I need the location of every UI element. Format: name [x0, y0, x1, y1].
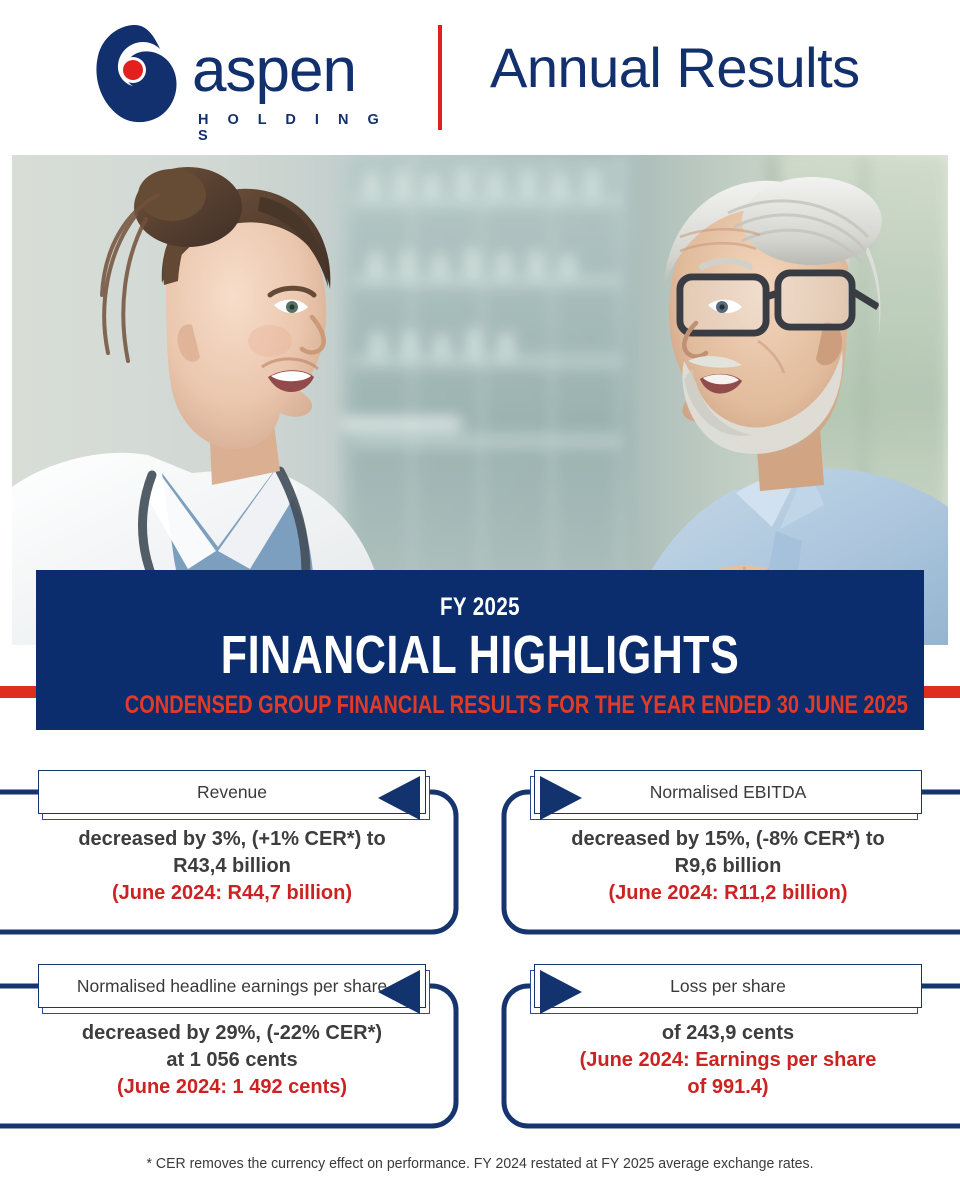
metric-line-1: of 243,9 cents	[532, 1020, 924, 1047]
metric-card-normalised-ebitda: Normalised EBITDA decreased by 15%, (-8%…	[480, 762, 960, 952]
metric-line-1: decreased by 3%, (+1% CER*) to	[36, 826, 428, 853]
metric-label: Revenue	[197, 782, 267, 803]
metric-line-1: decreased by 29%, (-22% CER*)	[36, 1020, 428, 1047]
metric-line-2: at 1 056 cents	[36, 1047, 428, 1074]
metric-prior-line-1: (June 2024: Earnings per share	[532, 1047, 924, 1074]
metric-prior-year: (June 2024: 1 492 cents)	[36, 1074, 428, 1101]
metric-prior-year: (June 2024: R11,2 billion)	[532, 880, 924, 907]
metric-card-revenue: Revenue decreased by 3%, (+1% CER*) to R…	[0, 762, 480, 952]
metric-label-box: Loss per share	[534, 964, 922, 1008]
metric-body: of 243,9 cents (June 2024: Earnings per …	[532, 1020, 924, 1101]
metric-line-2: R9,6 billion	[532, 853, 924, 880]
metric-body: decreased by 3%, (+1% CER*) to R43,4 bil…	[36, 826, 428, 907]
metric-label-box: Revenue	[38, 770, 426, 814]
triangle-left-icon	[378, 970, 420, 1014]
triangle-right-icon	[540, 776, 582, 820]
cer-footnote: * CER removes the currency effect on per…	[29, 1155, 931, 1172]
metric-card-loss-per-share: Loss per share of 243,9 cents (June 2024…	[480, 956, 960, 1146]
triangle-right-icon	[540, 970, 582, 1014]
metric-card-normalised-heps: Normalised headline earnings per share d…	[0, 956, 480, 1146]
metric-body: decreased by 29%, (-22% CER*) at 1 056 c…	[36, 1020, 428, 1101]
metric-line-1: decreased by 15%, (-8% CER*) to	[532, 826, 924, 853]
metric-label: Normalised headline earnings per share	[77, 976, 387, 997]
metric-label: Normalised EBITDA	[650, 782, 807, 803]
metric-label-box: Normalised EBITDA	[534, 770, 922, 814]
metric-line-2: R43,4 billion	[36, 853, 428, 880]
metric-prior-year: (June 2024: R44,7 billion)	[36, 880, 428, 907]
metric-label: Loss per share	[670, 976, 786, 997]
metric-label-box: Normalised headline earnings per share	[38, 964, 426, 1008]
metric-prior-line-2: of 991.4)	[532, 1074, 924, 1101]
triangle-left-icon	[378, 776, 420, 820]
metric-body: decreased by 15%, (-8% CER*) to R9,6 bil…	[532, 826, 924, 907]
metrics-grid: Revenue decreased by 3%, (+1% CER*) to R…	[0, 0, 960, 1200]
